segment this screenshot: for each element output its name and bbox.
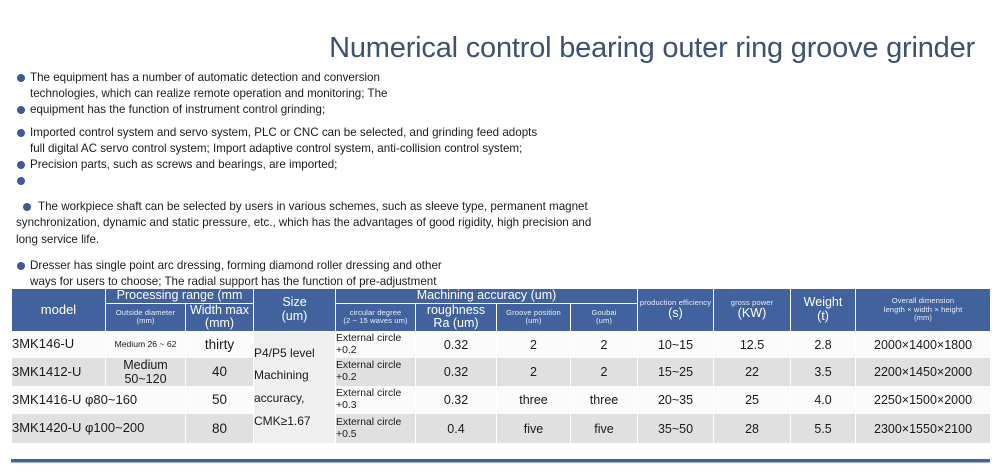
cell-circular-degree: External circle +0.3 [336,386,416,414]
list-item: equipment has the function of instrument… [16,102,616,118]
cell-model: 3MK1416-U φ80~160 [12,386,186,414]
cell-overall-dimension: 2200×1450×2000 [856,358,991,386]
spacer [16,248,616,258]
cell-weight: 4.0 [791,386,856,414]
list-item-line: full digital AC servo control system; Im… [30,141,650,157]
list-item-line: equipment has the function of instrument… [30,102,616,118]
bullet-dot-icon [17,262,25,270]
list-item-line: Imported control system and servo system… [30,125,650,141]
cell-production-efficiency: 35~50 [638,414,714,443]
cell-circular-degree: External circle +0.2 [336,358,416,386]
cell-overall-dimension: 2300×1550×2100 [856,414,991,443]
cell-groove-position: five [497,414,571,443]
col-header-size-label: Size [282,295,306,309]
cell-goubai: three [571,386,638,414]
cell-groove-position: 2 [497,331,571,358]
bullet-dot-icon [17,106,25,114]
table-bottom-rule [11,459,990,463]
list-item-line: technologies, which can realize remote o… [30,86,616,102]
cell-outside-diameter: Medium 26 ~ 62 [106,331,186,358]
list-item [16,173,616,189]
cell-model: 3MK1420-U φ100~200 [12,414,186,443]
list-item-line: Precision parts, such as screws and bear… [30,157,616,173]
cell-production-efficiency: 15~25 [638,358,714,386]
cell-weight: 5.5 [791,414,856,443]
col-header-circular-degree-unit: (2 ~ 15 waves um) [336,317,415,325]
cell-weight: 3.5 [791,358,856,386]
list-item-line: The equipment has a number of automatic … [30,70,616,86]
feature-bullet-list: The equipment has a number of automatic … [16,70,616,306]
bullet-dot-icon [17,129,25,137]
cell-groove-position: three [497,386,571,414]
cell-width-max: 50 [186,386,254,414]
cell-model: 3MK146-U [12,331,106,358]
col-header-circular-degree: circular degree (2 ~ 15 waves um) [336,303,416,331]
col-header-width-max-unit: (mm) [186,317,253,331]
cell-goubai: 2 [571,358,638,386]
col-header-machining-accuracy: Machining accuracy (um) [336,289,638,304]
col-header-weight-label: Weight [804,295,843,309]
col-header-overall-dimension: Overall dimension length × width × heigh… [856,289,991,332]
col-header-size: Size (um) [254,289,336,332]
cell-roughness: 0.32 [416,331,497,358]
cell-gross-power: 22 [714,358,791,386]
cell-roughness: 0.32 [416,386,497,414]
cell-goubai: five [571,414,638,443]
cell-gross-power: 28 [714,414,791,443]
col-header-roughness-label: roughness [427,303,485,317]
cell-production-efficiency: 10~15 [638,331,714,358]
cell-production-efficiency: 20~35 [638,386,714,414]
cell-size: P4/P5 level Machining accuracy, CMK≥1.67 [254,331,336,443]
col-header-width-max: Width max (mm) [186,303,254,331]
col-header-production-efficiency-unit: (s) [638,307,713,321]
table-body: 3MK146-U Medium 26 ~ 62 thirty P4/P5 lev… [12,331,991,443]
col-header-roughness: roughness Ra (um) [416,303,497,331]
cell-gross-power: 12.5 [714,331,791,358]
list-item-line: The workpiece shaft can be selected by u… [16,199,608,248]
cell-model: 3MK1412-U [12,358,106,386]
col-header-overall-dimension-unit: (mm) [856,314,990,322]
table-row: 3MK1416-U φ80~160 50 External circle +0.… [12,386,991,414]
col-header-width-max-label: Width max [190,303,249,317]
table-header-row-1: model Processing range (mm Size (um) Mac… [12,289,991,304]
col-header-outside-diameter: Outside diameter (mm) [106,303,186,331]
list-item: The workpiece shaft can be selected by u… [16,199,608,248]
list-item: Precision parts, such as screws and bear… [16,157,616,173]
col-header-weight-unit: (t) [791,310,855,324]
cell-outside-diameter: Medium 50~120 [106,358,186,386]
cell-width-max: thirty [186,331,254,358]
col-header-goubai: Goubai (um) [571,303,638,331]
bullet-dot-icon [17,161,25,169]
cell-circular-degree: External circle +0.2 [336,331,416,358]
cell-size-line3: CMK≥1.67 [254,410,335,433]
spacer [16,189,616,199]
list-item: Dresser has single point arc dressing, f… [16,258,616,290]
col-header-model: model [12,289,106,332]
cell-size-line1: P4/P5 level [254,342,335,365]
col-header-size-unit: (um) [254,310,335,324]
cell-goubai: 2 [571,331,638,358]
cell-overall-dimension: 2250×1500×2000 [856,386,991,414]
page-title: Numerical control bearing outer ring gro… [0,32,975,65]
cell-roughness: 0.32 [416,358,497,386]
bullet-dot-icon [17,74,25,82]
bullet-dot-icon [17,177,25,185]
col-header-gross-power: gross power (KW) [714,289,791,332]
table-row: 3MK1412-U Medium 50~120 40 External circ… [12,358,991,386]
cell-overall-dimension: 2000×1400×1800 [856,331,991,358]
col-header-gross-power-unit: (KW) [714,307,790,321]
col-header-goubai-unit: (um) [571,317,637,325]
list-item: The equipment has a number of automatic … [16,70,616,102]
table-row: 3MK146-U Medium 26 ~ 62 thirty P4/P5 lev… [12,331,991,358]
table-row: 3MK1420-U φ100~200 80 External circle +0… [12,414,991,443]
col-header-weight: Weight (t) [791,289,856,332]
cell-gross-power: 25 [714,386,791,414]
cell-groove-position: 2 [497,358,571,386]
cell-weight: 2.8 [791,331,856,358]
col-header-roughness-unit: Ra (um) [416,317,496,331]
col-header-groove-position: Groove position (um) [497,303,571,331]
list-item-line: Dresser has single point arc dressing, f… [30,258,616,274]
cell-width-max: 40 [186,358,254,386]
list-item: Imported control system and servo system… [16,125,630,157]
table-header: model Processing range (mm Size (um) Mac… [12,289,991,332]
col-header-groove-position-unit: (um) [497,317,570,325]
col-header-production-efficiency: production efficiency (s) [638,289,714,332]
cell-width-max: 80 [186,414,254,443]
cell-size-line2: Machining accuracy, [254,364,335,410]
col-header-processing-range: Processing range (mm [106,289,254,304]
specification-table: model Processing range (mm Size (um) Mac… [11,288,991,443]
col-header-outside-diameter-unit: (mm) [106,317,185,325]
cell-roughness: 0.4 [416,414,497,443]
cell-circular-degree: External circle +0.5 [336,414,416,443]
